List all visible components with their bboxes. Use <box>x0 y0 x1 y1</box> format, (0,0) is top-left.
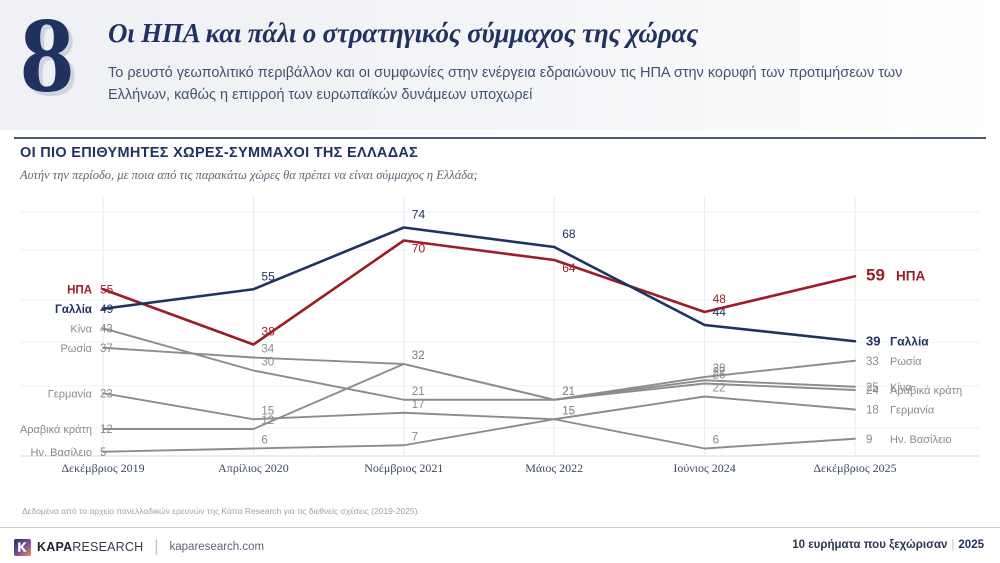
brand-separator: | <box>154 538 158 556</box>
data-point-label: 26 <box>713 370 726 382</box>
brand-name: KAPARESEARCH <box>37 540 143 554</box>
left-series-name: Αραβικά κράτη <box>20 424 92 436</box>
footer-year: 2025 <box>958 539 984 551</box>
data-point-label: 55 <box>261 269 275 283</box>
series-line <box>103 228 855 342</box>
data-point-label: 15 <box>562 405 575 417</box>
left-series-value: 55 <box>100 282 114 296</box>
footer-divider <box>0 527 1000 528</box>
x-axis-label: Νοέμβριος 2021 <box>364 461 443 475</box>
data-point-label: 30 <box>261 357 274 369</box>
x-axis-label: Ιούνιος 2024 <box>673 461 735 475</box>
right-series-name: Ρωσία <box>890 356 922 368</box>
series-line <box>103 419 855 452</box>
chart-subtitle: Αυτήν την περίοδο, με ποια από τις παρακ… <box>20 168 478 183</box>
data-point-label: 6 <box>713 435 719 447</box>
line-chart-svg: 3432212830212127123221261517152267156387… <box>0 190 1000 480</box>
series-line <box>103 328 855 400</box>
footer-tagline-separator: | <box>951 539 954 551</box>
series-Κίνα <box>103 328 855 400</box>
x-axis-label: Δεκέμβριος 2019 <box>61 461 144 475</box>
brand-light: RESEARCH <box>72 540 143 554</box>
right-series-name: Ην. Βασίλειο <box>890 434 951 446</box>
left-series-value: 5 <box>100 447 106 459</box>
left-series-value: 12 <box>100 424 113 436</box>
chart-title: ΟΙ ΠΙΟ ΕΠΙΘΥΜΗΤΕΣ ΧΩΡΕΣ-ΣΥΜΜΑΧΟΙ ΤΗΣ ΕΛΛ… <box>20 145 418 161</box>
data-point-label: 17 <box>412 399 425 411</box>
data-point-label: 70 <box>412 242 426 256</box>
x-axis-label: Μάιος 2022 <box>525 461 583 475</box>
right-series-value: 39 <box>866 333 880 348</box>
data-point-label: 74 <box>412 208 426 222</box>
right-series-name: ΗΠΑ <box>896 268 925 283</box>
page-subtitle: Το ρευστό γεωπολιτικό περιβάλλον και οι … <box>108 62 948 107</box>
data-point-label: 6 <box>261 435 267 447</box>
series-Γερμανία <box>103 393 855 419</box>
left-series-name: Κίνα <box>70 323 92 335</box>
brand-bold: KAPA <box>37 540 72 554</box>
infographic-page: 8 Οι ΗΠΑ και πάλι ο στρατηγικός σύμμαχος… <box>0 0 1000 563</box>
right-series-value: 9 <box>866 434 872 446</box>
footer-brand-block: KAPARESEARCH | kaparesearch.com <box>14 538 264 556</box>
left-series-name: Ρωσία <box>60 343 92 355</box>
data-point-label: 34 <box>261 344 274 356</box>
footer-tagline: 10 ευρήματα που ξεχώρισαν <box>792 539 947 551</box>
right-series-name: Γερμανία <box>890 405 935 417</box>
left-series-name: Ην. Βασίλειο <box>31 447 92 459</box>
left-series-name: ΗΠΑ <box>67 284 92 296</box>
series-line <box>103 393 855 419</box>
data-point-label: 38 <box>261 325 275 339</box>
data-point-label: 68 <box>562 227 576 241</box>
left-series-value: 37 <box>100 343 113 355</box>
series-line <box>103 348 855 400</box>
header-band: 8 Οι ΗΠΑ και πάλι ο στρατηγικός σύμμαχος… <box>0 0 1000 130</box>
data-point-label: 7 <box>412 431 418 443</box>
brand-website[interactable]: kaparesearch.com <box>170 541 265 553</box>
left-series-value: 23 <box>100 388 113 400</box>
right-series-name: Γαλλία <box>890 334 929 348</box>
left-series-name: Γερμανία <box>48 388 93 400</box>
page-title: Οι ΗΠΑ και πάλι ο στρατηγικός σύμμαχος τ… <box>108 18 968 49</box>
kapa-logo-icon <box>14 539 31 556</box>
data-point-label: 21 <box>412 386 425 398</box>
data-point-label: 21 <box>562 386 575 398</box>
right-series-value: 18 <box>866 405 879 417</box>
data-point-label: 48 <box>713 292 727 306</box>
right-series-name: Αραβικά κράτη <box>890 385 962 397</box>
series-Γαλλία <box>103 228 855 342</box>
data-point-label: 15 <box>261 405 274 417</box>
source-footnote: Δεδομένα από το αρχείο πανελλαδικών ερευ… <box>22 506 420 516</box>
header-divider <box>14 137 986 139</box>
data-point-label: 22 <box>713 383 726 395</box>
data-point-label: 64 <box>562 261 576 275</box>
series-Ην. Βασίλειο <box>103 419 855 452</box>
right-series-value: 33 <box>866 356 879 368</box>
right-series-value: 24 <box>866 385 879 397</box>
right-series-value: 59 <box>866 265 885 284</box>
left-series-name: Γαλλία <box>55 304 92 316</box>
footer-tagline-block: 10 ευρήματα που ξεχώρισαν|2025 <box>792 539 984 551</box>
left-series-value: 43 <box>100 323 113 335</box>
data-point-label: 32 <box>412 350 425 362</box>
chart-plot-area: 3432212830212127123221261517152267156387… <box>0 190 1000 480</box>
data-point-label: 44 <box>713 305 727 319</box>
left-series-value: 49 <box>100 302 114 316</box>
x-axis-label: Απρίλιος 2020 <box>218 461 289 475</box>
x-axis-label: Δεκέμβριος 2025 <box>813 461 896 475</box>
rank-number: 8 <box>20 2 74 110</box>
series-Ρωσία <box>103 348 855 400</box>
